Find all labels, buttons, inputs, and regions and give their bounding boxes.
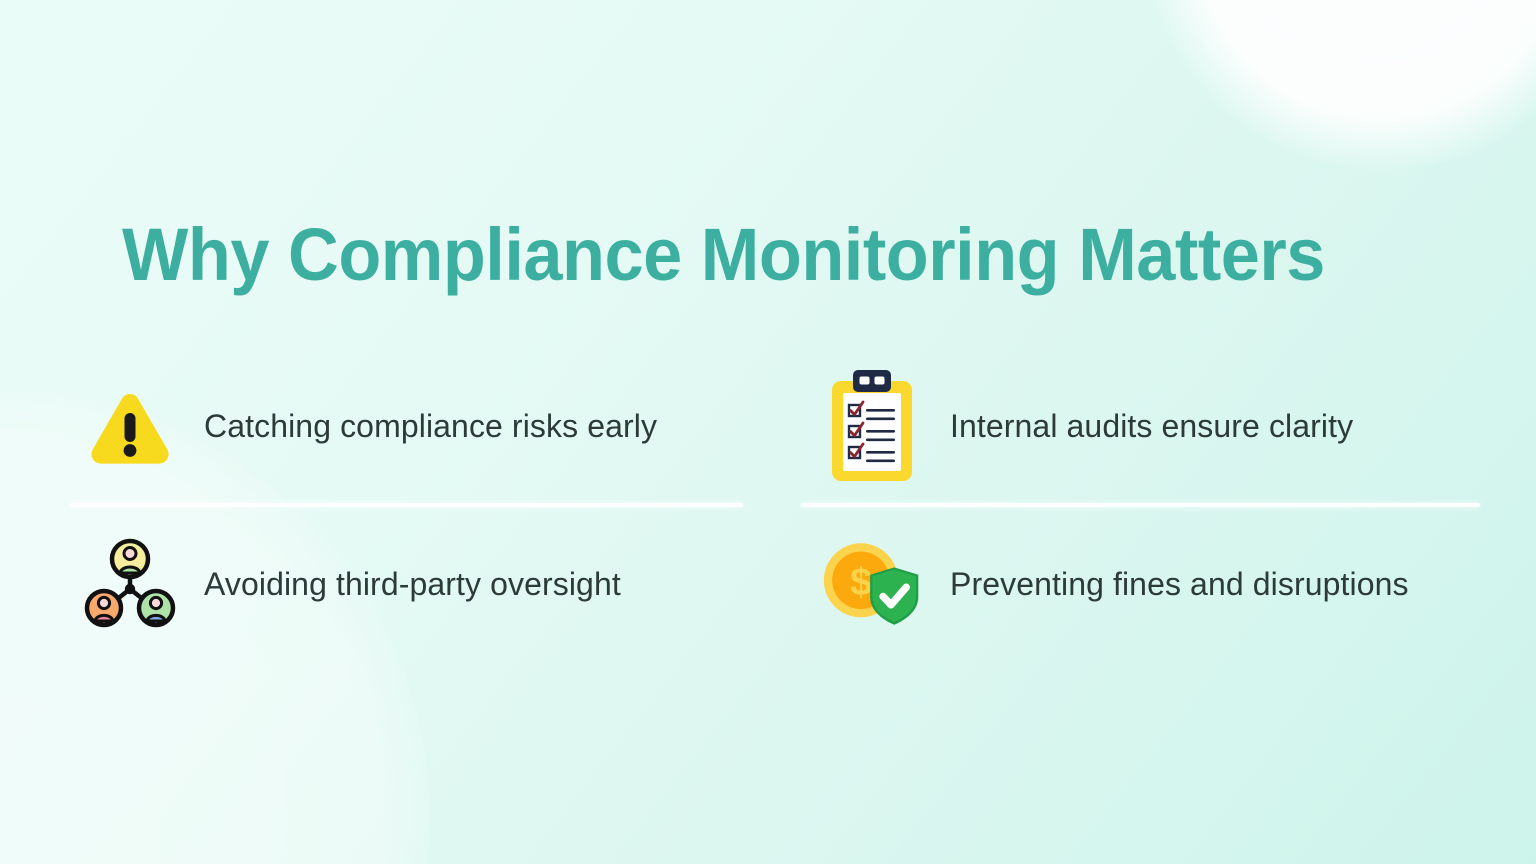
coin-shield-check-icon: $ xyxy=(822,529,922,639)
benefit-label: Catching compliance risks early xyxy=(204,408,657,445)
benefit-item-internal-audits-ensure-clarity: Internal audits ensure clarity xyxy=(798,362,1480,490)
svg-text:$: $ xyxy=(850,561,872,604)
benefit-item-avoiding-third-party-oversight: Avoiding third-party oversight xyxy=(68,520,798,648)
benefits-row-1: Catching compliance risks early xyxy=(68,362,1480,490)
clipboard-checklist-icon xyxy=(822,371,922,481)
decorative-circle-top-right xyxy=(1146,0,1536,170)
benefits-grid: Catching compliance risks early xyxy=(68,362,1480,648)
benefit-label: Avoiding third-party oversight xyxy=(204,566,621,603)
page-title: Why Compliance Monitoring Matters xyxy=(122,218,1357,292)
divider-left xyxy=(70,503,743,507)
benefit-label: Preventing fines and disruptions xyxy=(950,566,1409,603)
warning-triangle-icon xyxy=(80,371,180,481)
divider-right xyxy=(801,503,1480,507)
slide-canvas: Why Compliance Monitoring Matters Catchi… xyxy=(0,0,1536,864)
people-network-icon xyxy=(80,529,180,639)
benefit-label: Internal audits ensure clarity xyxy=(950,408,1353,445)
benefits-row-2: Avoiding third-party oversight $ P xyxy=(68,520,1480,648)
benefit-item-catching-compliance-risks-early: Catching compliance risks early xyxy=(68,362,798,490)
benefit-item-preventing-fines-and-disruptions: $ Preventing fines and disruptions xyxy=(798,520,1480,648)
divider-row xyxy=(68,490,1480,520)
